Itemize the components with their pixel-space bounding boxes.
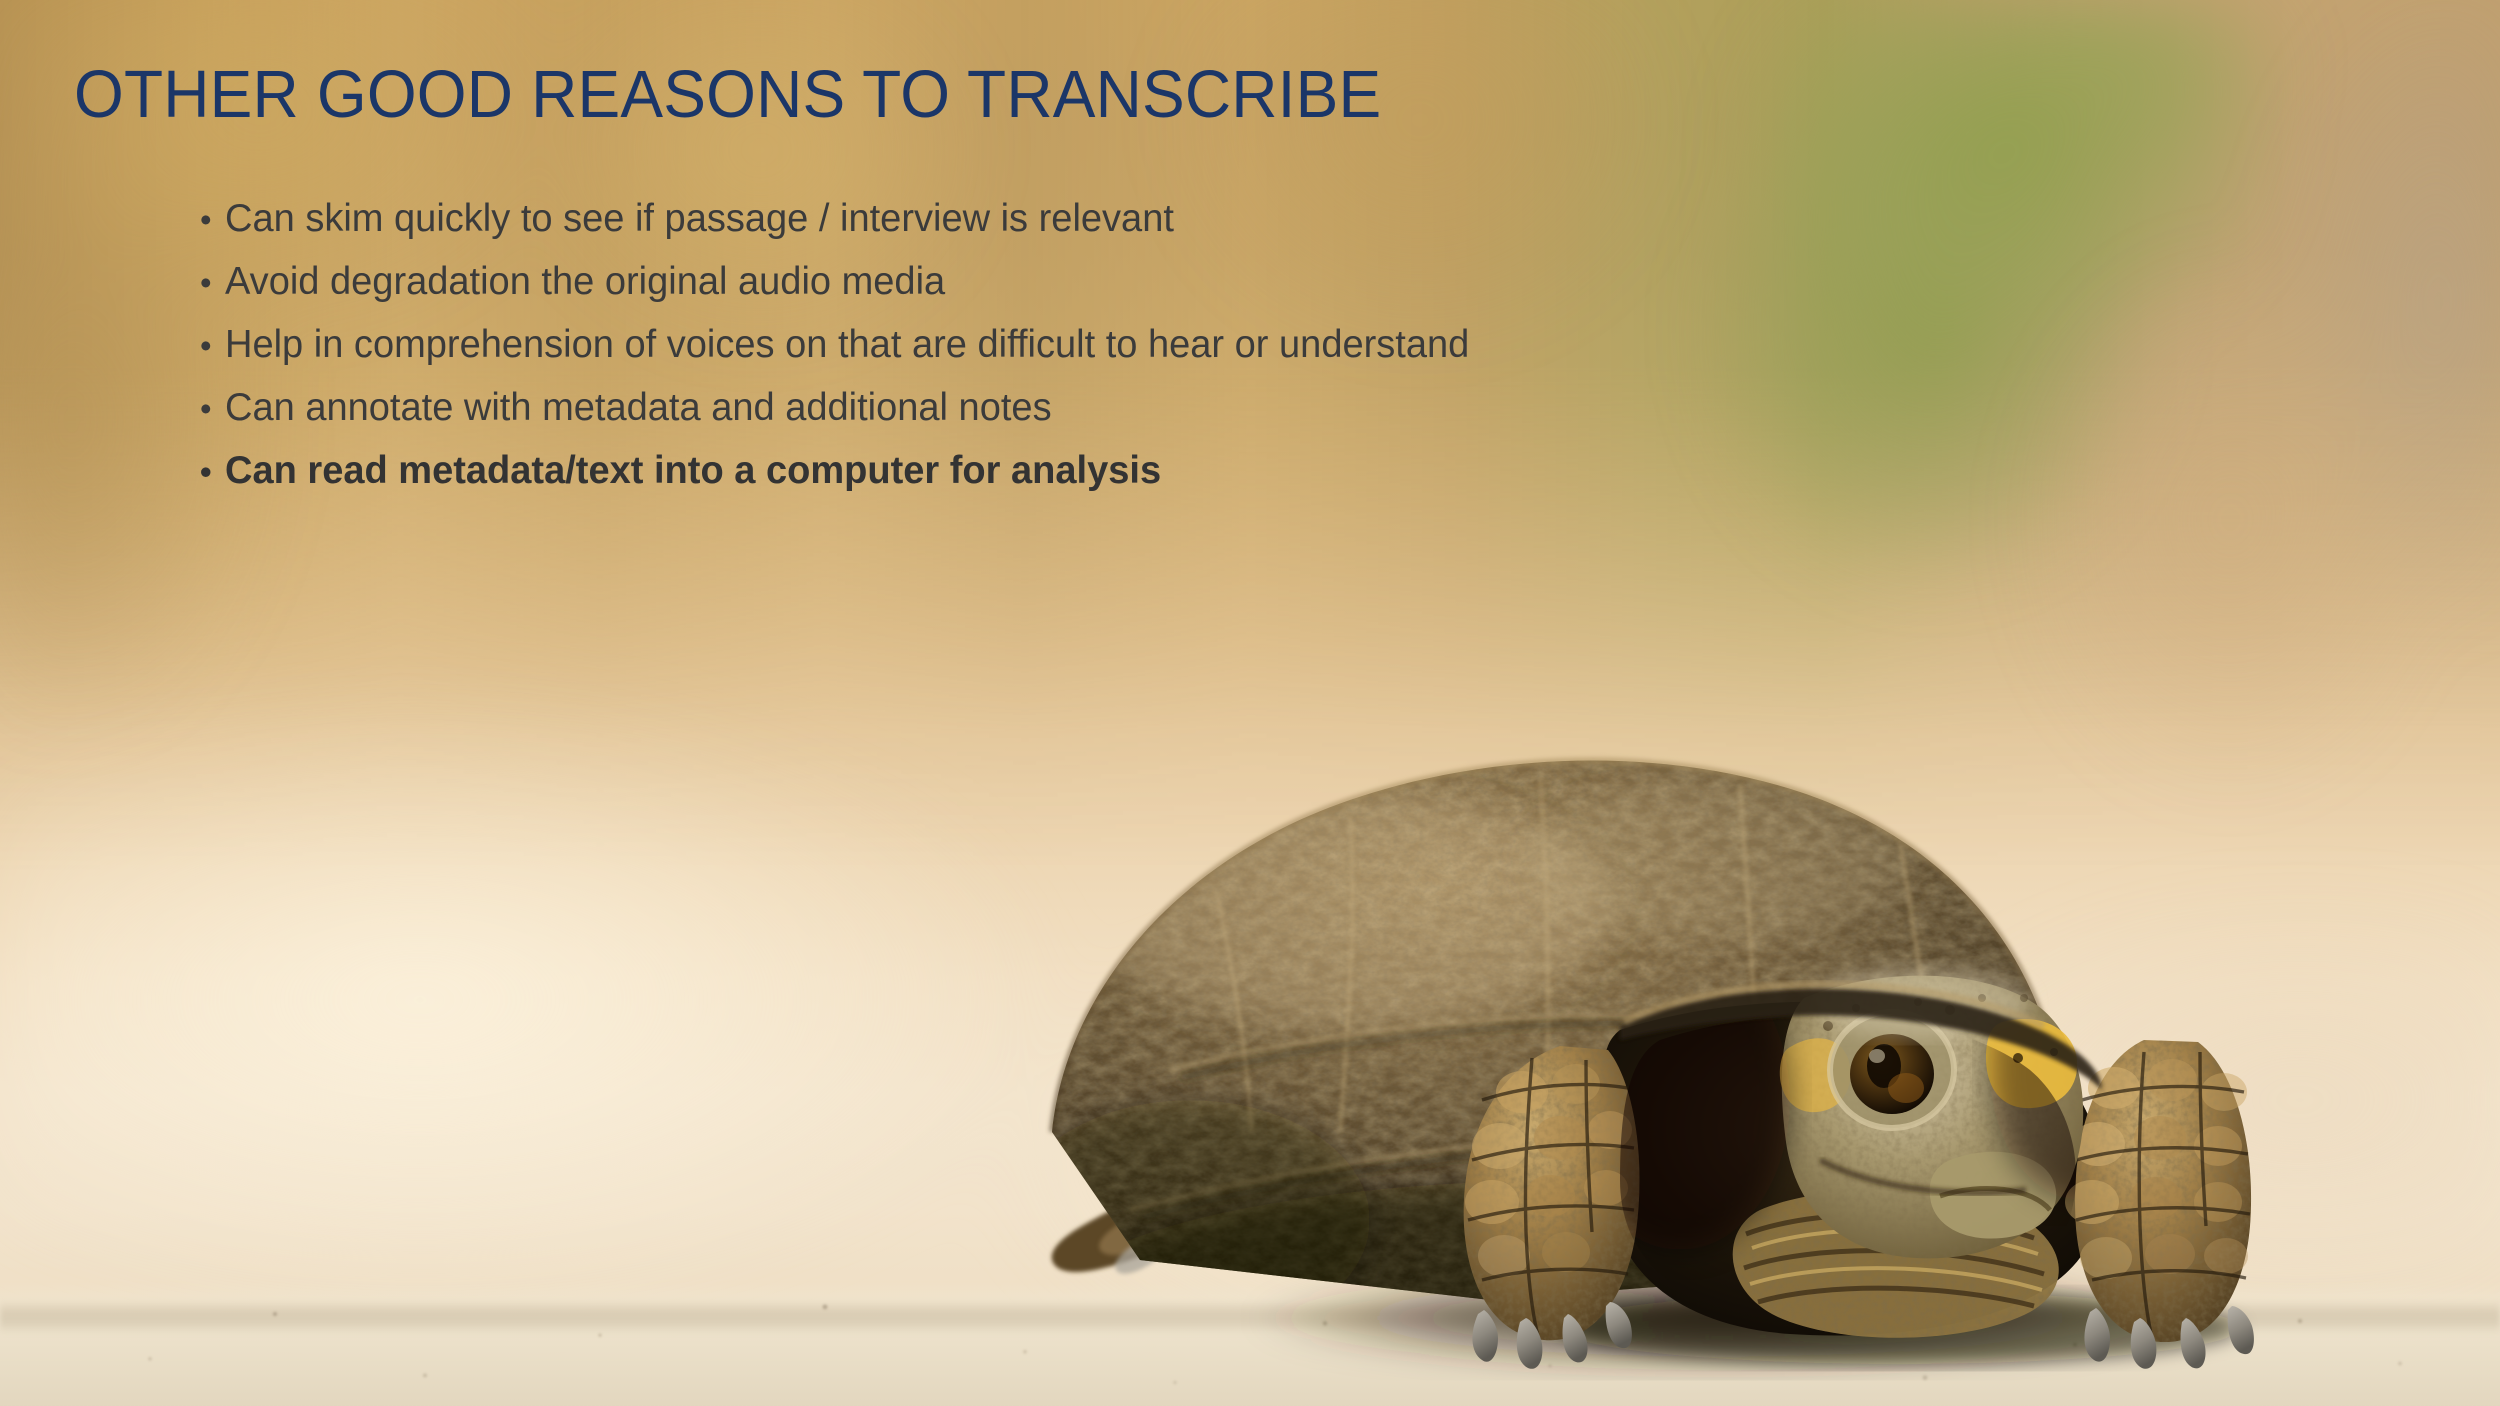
bullet-item: • Can skim quickly to see if passage / i…: [200, 187, 1900, 250]
bullet-item: • Can annotate with metadata and additio…: [200, 376, 1900, 439]
bullet-marker-icon: •: [200, 188, 225, 251]
bullet-marker-icon: •: [200, 314, 225, 377]
bullet-marker-icon: •: [200, 377, 225, 440]
bullet-marker-icon: •: [200, 440, 225, 503]
turtle-photo-subject: [1020, 740, 2440, 1360]
bullet-text: Avoid degradation the original audio med…: [225, 250, 945, 313]
bullet-list: • Can skim quickly to see if passage / i…: [200, 187, 1900, 502]
slide-canvas: OTHER GOOD REASONS TO TRANSCRIBE • Can s…: [0, 0, 2500, 1406]
bullet-marker-icon: •: [200, 251, 225, 314]
bullet-text: Can annotate with metadata and additiona…: [225, 376, 1052, 439]
bullet-item: • Avoid degradation the original audio m…: [200, 250, 1900, 313]
bullet-item: • Can read metadata/text into a computer…: [200, 439, 1900, 502]
bullet-item: • Help in comprehension of voices on tha…: [200, 313, 1900, 376]
bullet-text: Help in comprehension of voices on that …: [225, 313, 1469, 376]
slide-title: OTHER GOOD REASONS TO TRANSCRIBE: [74, 61, 1381, 128]
bullet-text: Can read metadata/text into a computer f…: [225, 439, 1161, 502]
bullet-text: Can skim quickly to see if passage / int…: [225, 187, 1174, 250]
